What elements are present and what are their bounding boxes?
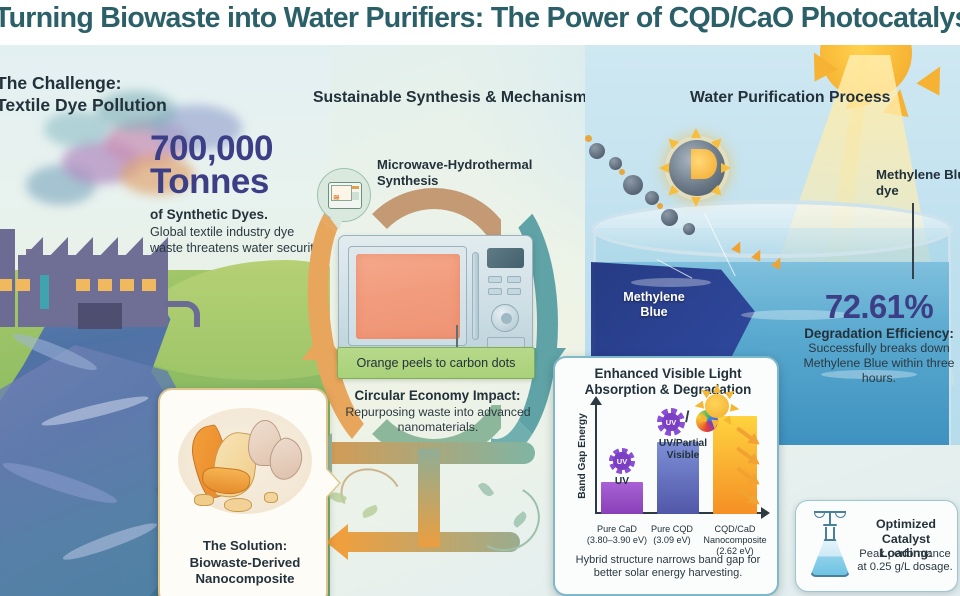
solution-caption-line3: Nanocomposite bbox=[196, 571, 295, 586]
microwave-button bbox=[507, 276, 521, 283]
solution-caption-line1: The Solution: bbox=[203, 538, 287, 553]
catalyst-body-line2: at 0.25 g/L dosage. bbox=[857, 561, 952, 573]
solution-caption-line2: Biowaste-Derived bbox=[190, 555, 301, 570]
factory-window bbox=[16, 279, 30, 291]
uv-badge-bar2: UV bbox=[662, 413, 680, 431]
infographic-root: Turning Biowaste into Water Purifiers: T… bbox=[0, 0, 960, 596]
catalyst-heading-line1: Optimized bbox=[876, 517, 936, 531]
synthesis-heading: Sustainable Synthesis & Mechanism bbox=[313, 89, 587, 107]
microwave-synthesis-label: Microwave-Hydrothermal Synthesis bbox=[377, 157, 557, 189]
factory-outflow-pipe bbox=[166, 301, 200, 327]
methylene-blue-water-label: Methylene Blue bbox=[614, 290, 694, 320]
challenge-heading-line2: Textile Dye Pollution bbox=[0, 95, 167, 115]
degradation-percent: 72.61% bbox=[798, 290, 960, 324]
purification-heading: Water Purification Process bbox=[690, 89, 890, 107]
scale-base bbox=[823, 524, 837, 526]
flask-neck bbox=[825, 527, 835, 541]
x-label-name: CQD/CaD bbox=[715, 524, 756, 534]
legend-uv-partial-visible: UV/Partial Visible bbox=[649, 438, 717, 462]
nanoparticle bbox=[609, 157, 622, 170]
sun-ray-chart bbox=[694, 401, 704, 410]
infographic-canvas: The Challenge: Textile Dye Pollution 700… bbox=[0, 45, 960, 596]
methylene-blue-dye-callout: Methylene Blue dye bbox=[876, 167, 960, 199]
microwave-illustration bbox=[338, 235, 533, 360]
solution-caption: The Solution: Biowaste-Derived Nanocompo… bbox=[166, 538, 324, 588]
factory-window bbox=[98, 279, 112, 291]
sun-ray-chart bbox=[711, 420, 720, 430]
circular-economy-body: Repurposing waste into advanced nanomate… bbox=[333, 405, 543, 435]
page-title: Turning Biowaste into Water Purifiers: T… bbox=[0, 2, 960, 35]
mb-label-line2: Blue bbox=[640, 305, 667, 319]
catalyst-body-line1: Peak performance bbox=[859, 548, 950, 560]
peel-fragment bbox=[194, 494, 214, 506]
sun-ray-chart bbox=[730, 404, 740, 413]
x-label-value: (3.09 eV) bbox=[653, 535, 690, 545]
challenge-heading: The Challenge: Textile Dye Pollution bbox=[0, 72, 167, 116]
x-label-name: Pure CaD bbox=[597, 524, 637, 534]
chart-plot-area: Band Gap Energy UV UV UV / bbox=[565, 402, 771, 522]
circular-economy-heading: Circular Economy Impact: bbox=[340, 388, 535, 403]
glow-spike bbox=[691, 197, 701, 207]
legend-line1: UV/Partial bbox=[659, 438, 707, 449]
mb-dye-line2: dye bbox=[876, 183, 899, 198]
legend-uv: UV bbox=[606, 476, 638, 488]
nanoparticle bbox=[589, 143, 605, 159]
solution-card: The Solution: Biowaste-Derived Nanocompo… bbox=[158, 388, 328, 596]
factory-window bbox=[142, 279, 156, 291]
legend-line2: Visible bbox=[667, 450, 700, 461]
nanoparticle bbox=[661, 209, 678, 226]
orange-peels-label: Orange peels to carbon dots bbox=[337, 347, 535, 379]
mb-dye-line1: Methylene Blue bbox=[876, 167, 960, 182]
peel-fragment bbox=[264, 492, 278, 503]
flask-body bbox=[810, 539, 850, 577]
glow-spike bbox=[721, 163, 731, 173]
catalyst-body: Peak performance at 0.25 g/L dosage. bbox=[854, 548, 956, 575]
band-gap-chart-card: Enhanced Visible Light Absorption & Degr… bbox=[553, 356, 779, 596]
glow-spike bbox=[691, 128, 701, 138]
nanoparticle-gold bbox=[619, 169, 625, 175]
sun-icon-chart bbox=[705, 394, 729, 418]
dye-stat-number: 700,000 Tonnes bbox=[150, 132, 325, 198]
chart-footnote: Hybrid structure narrows band gap for be… bbox=[563, 554, 773, 581]
smoke-puff bbox=[44, 111, 110, 147]
challenge-heading-line1: The Challenge: bbox=[0, 73, 121, 93]
microwave-window bbox=[356, 254, 460, 339]
water-ripple bbox=[631, 278, 711, 287]
microwave-door bbox=[348, 246, 467, 346]
factory-window bbox=[120, 279, 134, 291]
microwave-icon: ≋ bbox=[328, 182, 362, 209]
chart-title: Enhanced Visible Light Absorption & Degr… bbox=[563, 366, 773, 398]
microwave-button bbox=[488, 288, 502, 295]
x-label-name: Pure CQD bbox=[651, 524, 693, 534]
degradation-efficiency-stat: 72.61% Degradation Efficiency: Successfu… bbox=[798, 290, 960, 386]
biowaste-illustration bbox=[172, 402, 318, 520]
microwave-display bbox=[487, 248, 524, 268]
microwave-handle bbox=[472, 252, 479, 340]
smokestack bbox=[0, 229, 15, 327]
factory-window bbox=[76, 279, 90, 291]
mb-label-line1: Methylene bbox=[623, 290, 685, 304]
glow-spike bbox=[659, 163, 669, 173]
peel-fragment bbox=[224, 498, 252, 512]
scale-pan bbox=[814, 512, 825, 518]
slash-separator: / bbox=[685, 409, 689, 427]
uv-badge-bar1: UV bbox=[613, 452, 631, 470]
decorative-swoosh-arrowhead bbox=[326, 524, 348, 560]
methylene-blue-dye-pointer bbox=[912, 203, 914, 279]
flask-icon bbox=[810, 527, 850, 577]
microwave-button bbox=[507, 288, 521, 295]
dye-stat-body: Global textile industry dye waste threat… bbox=[150, 225, 330, 256]
microwave-speech-bubble: ≋ bbox=[317, 168, 371, 222]
nanoparticle bbox=[683, 223, 695, 235]
factory-door bbox=[78, 303, 122, 329]
sun-ray-chart bbox=[713, 384, 721, 393]
dye-stat-unit: Tonnes bbox=[150, 165, 325, 198]
scale-stand bbox=[829, 511, 831, 525]
factory-window bbox=[0, 279, 12, 291]
catalyst-loading-card: Optimized Catalyst Loading: Peak perform… bbox=[795, 500, 958, 592]
balance-scale-icon bbox=[814, 507, 846, 527]
scale-pan bbox=[835, 512, 846, 518]
sun-ray bbox=[916, 60, 951, 95]
nanoparticle-gold bbox=[585, 135, 592, 142]
decorative-swoosh-stem bbox=[418, 449, 440, 547]
green-label-connector bbox=[456, 325, 458, 349]
x-label-cqd-cao: CQD/CaD Nanocomposite (2.62 eV) bbox=[695, 524, 775, 557]
degradation-body: Successfully breaks down Methylene Blue … bbox=[798, 341, 960, 386]
nanoparticle-gold bbox=[657, 203, 663, 209]
nanoparticle bbox=[623, 175, 643, 195]
chart-y-axis-label: Band Gap Energy bbox=[577, 396, 591, 516]
x-label-name2: Nanocomposite bbox=[703, 535, 766, 545]
microwave-knob bbox=[491, 304, 519, 332]
microwave-button bbox=[488, 276, 502, 283]
title-bar: Turning Biowaste into Water Purifiers: T… bbox=[0, 0, 960, 45]
degradation-caption: Degradation Efficiency: bbox=[798, 326, 960, 341]
dye-stat-subtitle: of Synthetic Dyes. bbox=[150, 207, 330, 222]
factory-pipe-detail bbox=[40, 275, 49, 309]
